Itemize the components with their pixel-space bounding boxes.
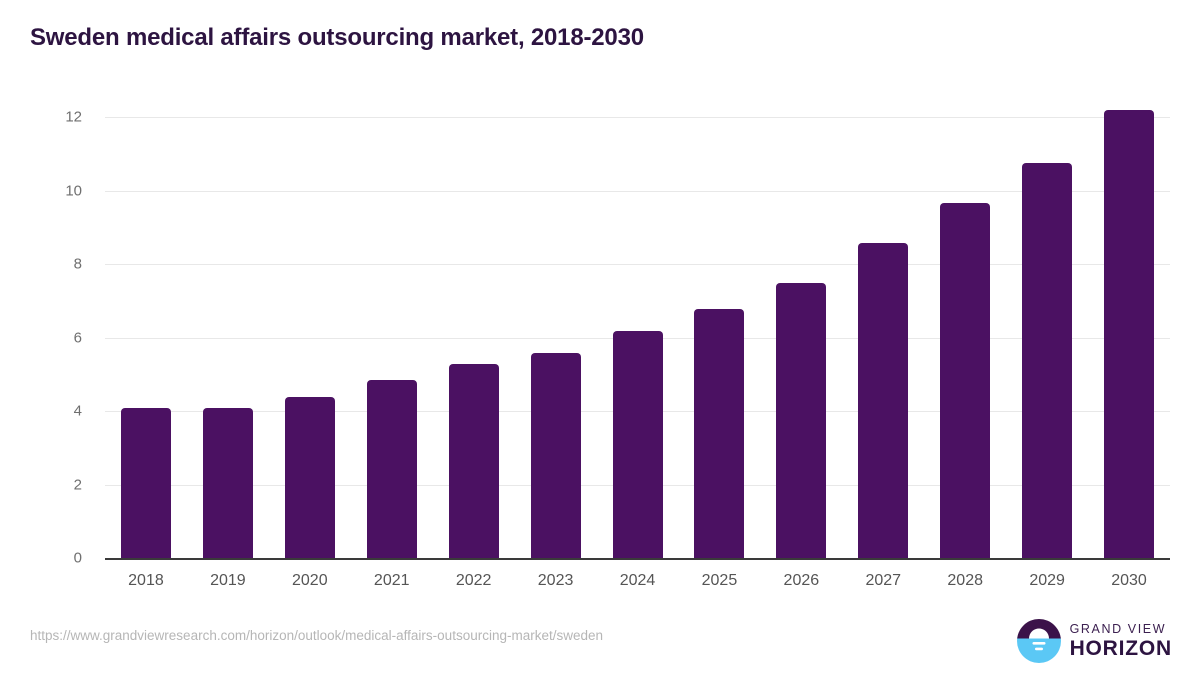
x-axis-tick-label: 2020 <box>265 572 355 590</box>
bar[interactable] <box>531 353 581 558</box>
bar[interactable] <box>776 283 826 558</box>
bar[interactable] <box>1022 163 1072 558</box>
logo-line-1: GRAND VIEW <box>1070 623 1172 636</box>
x-axis-tick-label: 2026 <box>756 572 846 590</box>
x-axis-line <box>105 558 1170 560</box>
x-axis-tick-label: 2023 <box>511 572 601 590</box>
bar[interactable] <box>694 309 744 558</box>
y-axis-tick-label: 6 <box>22 329 82 346</box>
x-axis-tick-label: 2024 <box>593 572 683 590</box>
grand-view-horizon-logo[interactable]: GRAND VIEW HORIZON <box>1017 618 1172 664</box>
x-axis-tick-label: 2027 <box>838 572 928 590</box>
logo-text: GRAND VIEW HORIZON <box>1070 623 1172 660</box>
bar[interactable] <box>858 243 908 558</box>
y-axis-tick-label: 4 <box>22 403 82 420</box>
horizon-logo-icon <box>1017 619 1061 663</box>
bar[interactable] <box>613 331 663 558</box>
x-axis-tick-label: 2030 <box>1084 572 1174 590</box>
x-axis-tick-label: 2019 <box>183 572 273 590</box>
y-axis-tick-label: 8 <box>22 256 82 273</box>
y-axis-tick-label: 10 <box>22 182 82 199</box>
x-axis-tick-label: 2025 <box>674 572 764 590</box>
y-axis-tick-label: 12 <box>22 109 82 126</box>
bar[interactable] <box>121 408 171 558</box>
x-axis-tick-label: 2029 <box>1002 572 1092 590</box>
bar[interactable] <box>285 397 335 558</box>
chart-card: Sweden medical affairs outsourcing marke… <box>0 0 1200 675</box>
bar[interactable] <box>367 380 417 558</box>
logo-line-2: HORIZON <box>1070 638 1172 659</box>
bar[interactable] <box>449 364 499 558</box>
bar[interactable] <box>1104 110 1154 558</box>
y-axis-tick-label: 0 <box>22 550 82 567</box>
bar[interactable] <box>203 408 253 558</box>
y-axis-tick-label: 2 <box>22 476 82 493</box>
x-axis-tick-label: 2022 <box>429 572 519 590</box>
bar-series <box>105 117 1170 558</box>
bar[interactable] <box>940 203 990 558</box>
x-axis-tick-label: 2021 <box>347 572 437 590</box>
x-axis-tick-label: 2018 <box>101 572 191 590</box>
chart-plot-area: Market Size (US$M) 024681012 20182019202… <box>0 0 1200 675</box>
source-url[interactable]: https://www.grandviewresearch.com/horizo… <box>30 628 603 643</box>
x-axis-tick-label: 2028 <box>920 572 1010 590</box>
